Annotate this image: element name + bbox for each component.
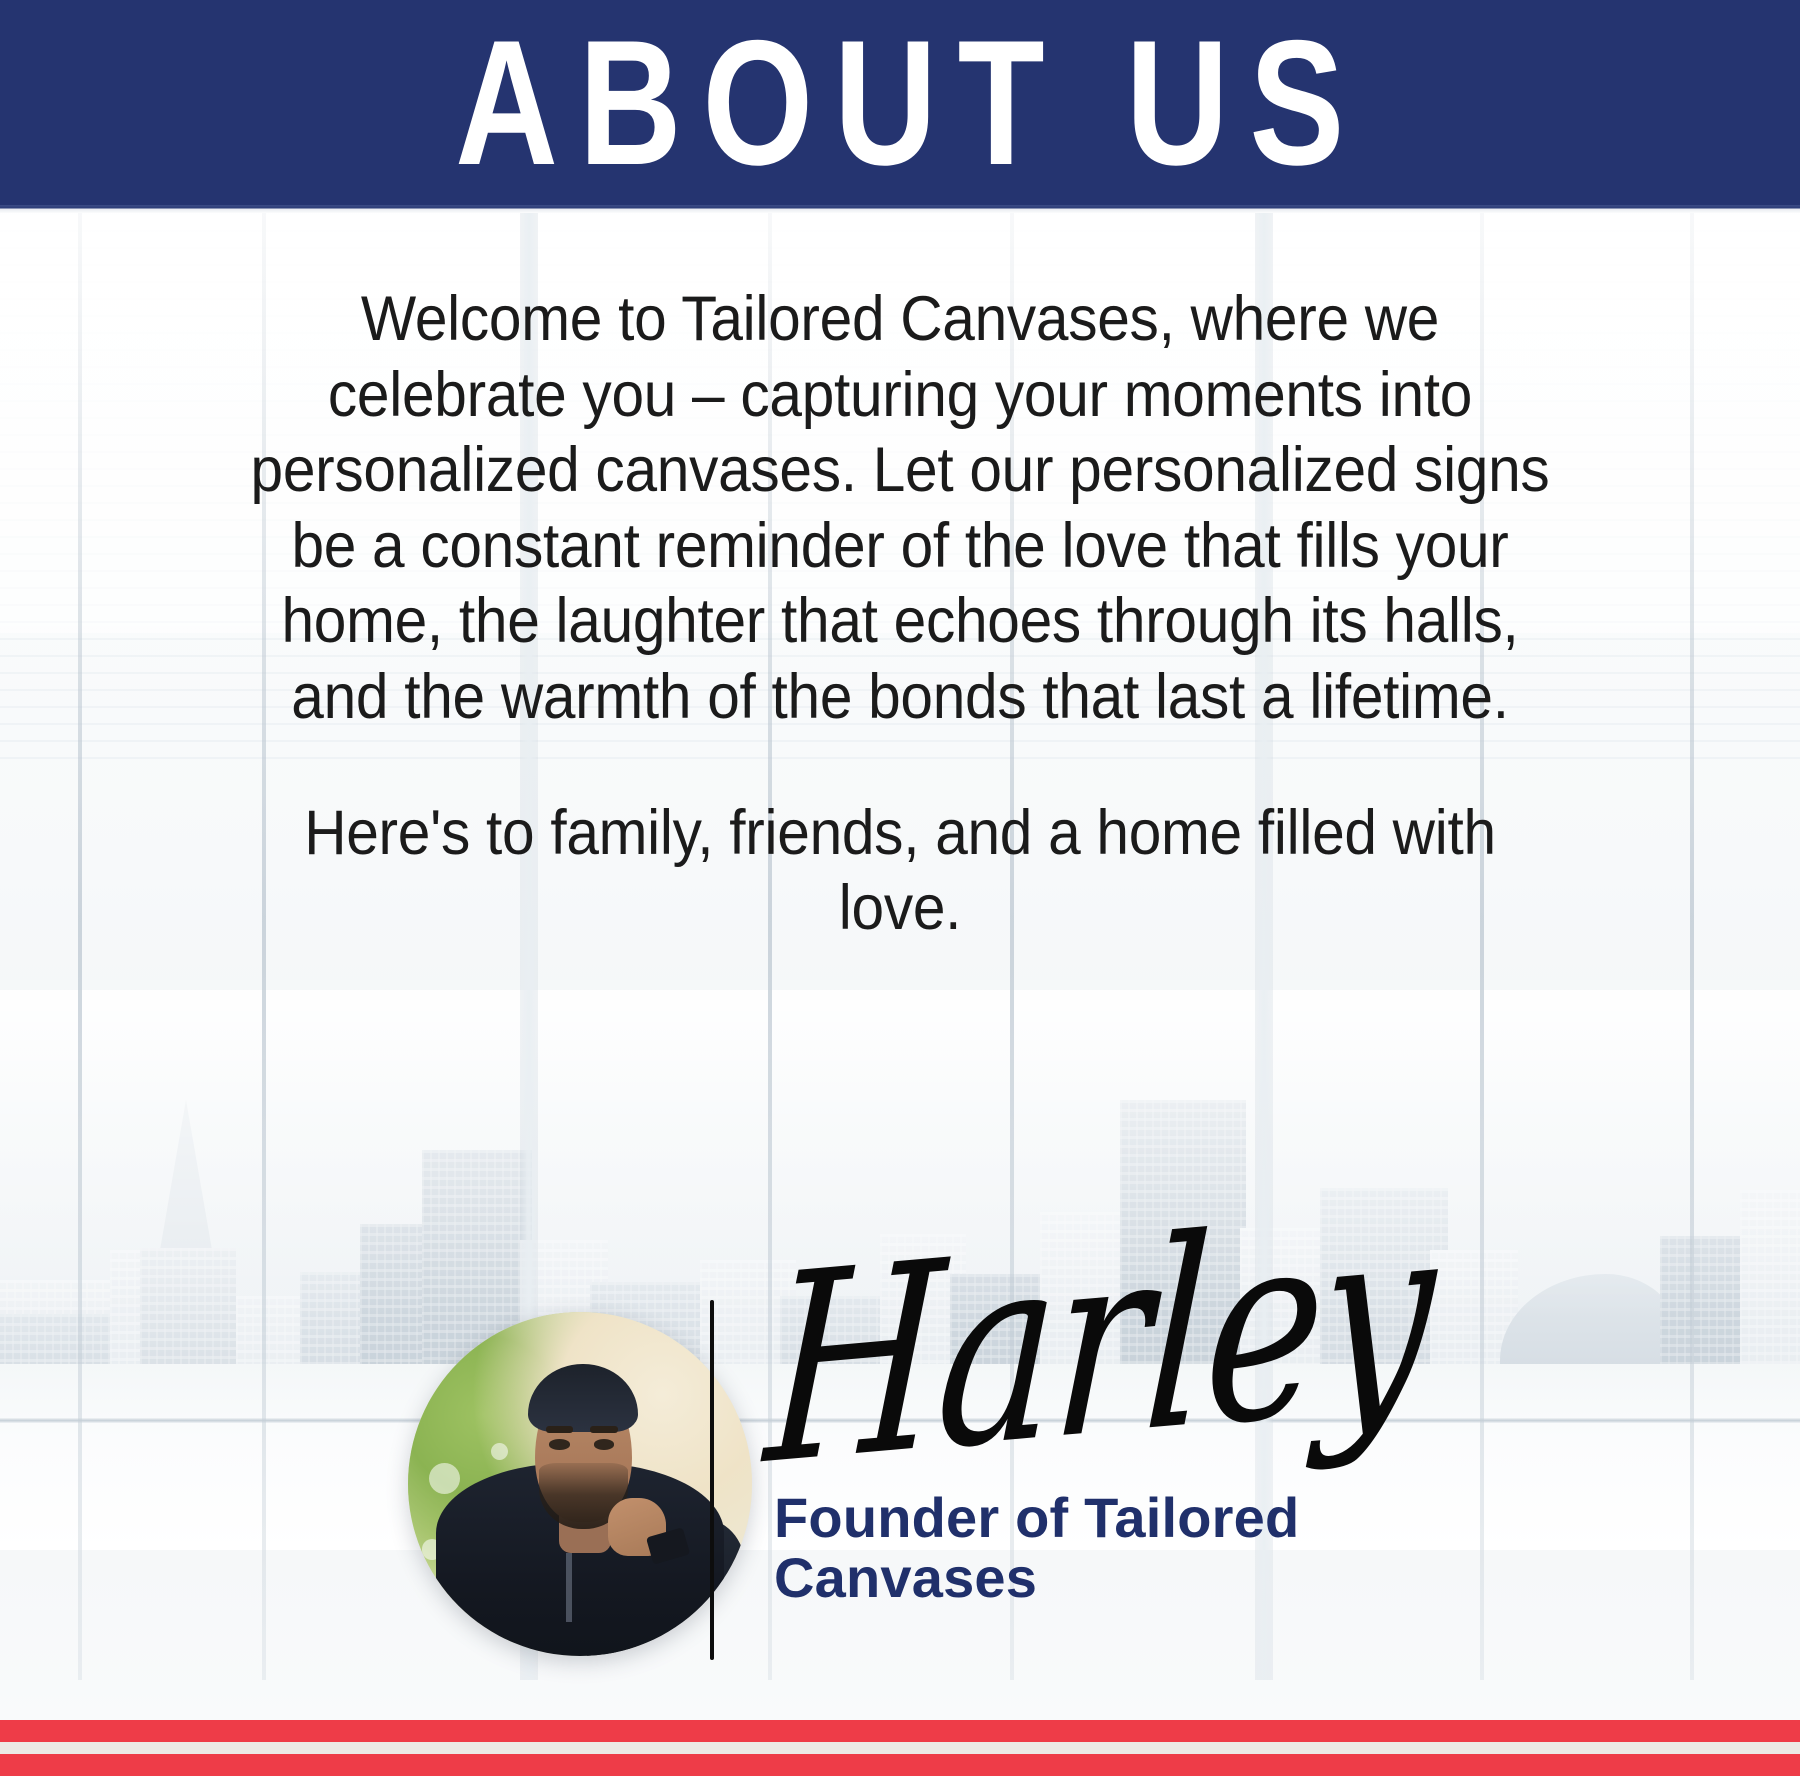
intro-paragraph: Welcome to Tailored Canvases, where we c…	[249, 282, 1551, 736]
founder-photo	[408, 1312, 752, 1656]
paragraph-spacer	[200, 736, 1600, 796]
signature-area: Harley Founder of Tailored Canvases	[760, 1290, 1480, 1690]
closing-paragraph: Here's to family, friends, and a home fi…	[249, 796, 1551, 947]
footer-stripe-bottom	[0, 1754, 1800, 1776]
about-us-copy: Welcome to Tailored Canvases, where we c…	[200, 282, 1600, 947]
signature-block: Harley Founder of Tailored Canvases	[0, 1290, 1800, 1690]
header-banner: ABOUT US	[0, 0, 1800, 205]
avatar	[408, 1312, 752, 1656]
founder-role: Founder of Tailored Canvases	[774, 1488, 1394, 1609]
footer-stripe-gap	[0, 1742, 1800, 1754]
about-us-page: ABOUT US Welcome to Tailored Canvases, w…	[0, 0, 1800, 1776]
footer-stripe-top	[0, 1720, 1800, 1742]
founder-signature: Harley	[761, 1185, 1436, 1502]
signature-divider	[710, 1300, 714, 1660]
role-line-2: Canvases	[774, 1548, 1394, 1608]
page-title: ABOUT US	[435, 14, 1366, 192]
role-line-1: Founder of Tailored	[774, 1488, 1394, 1548]
header-underline	[0, 205, 1800, 213]
